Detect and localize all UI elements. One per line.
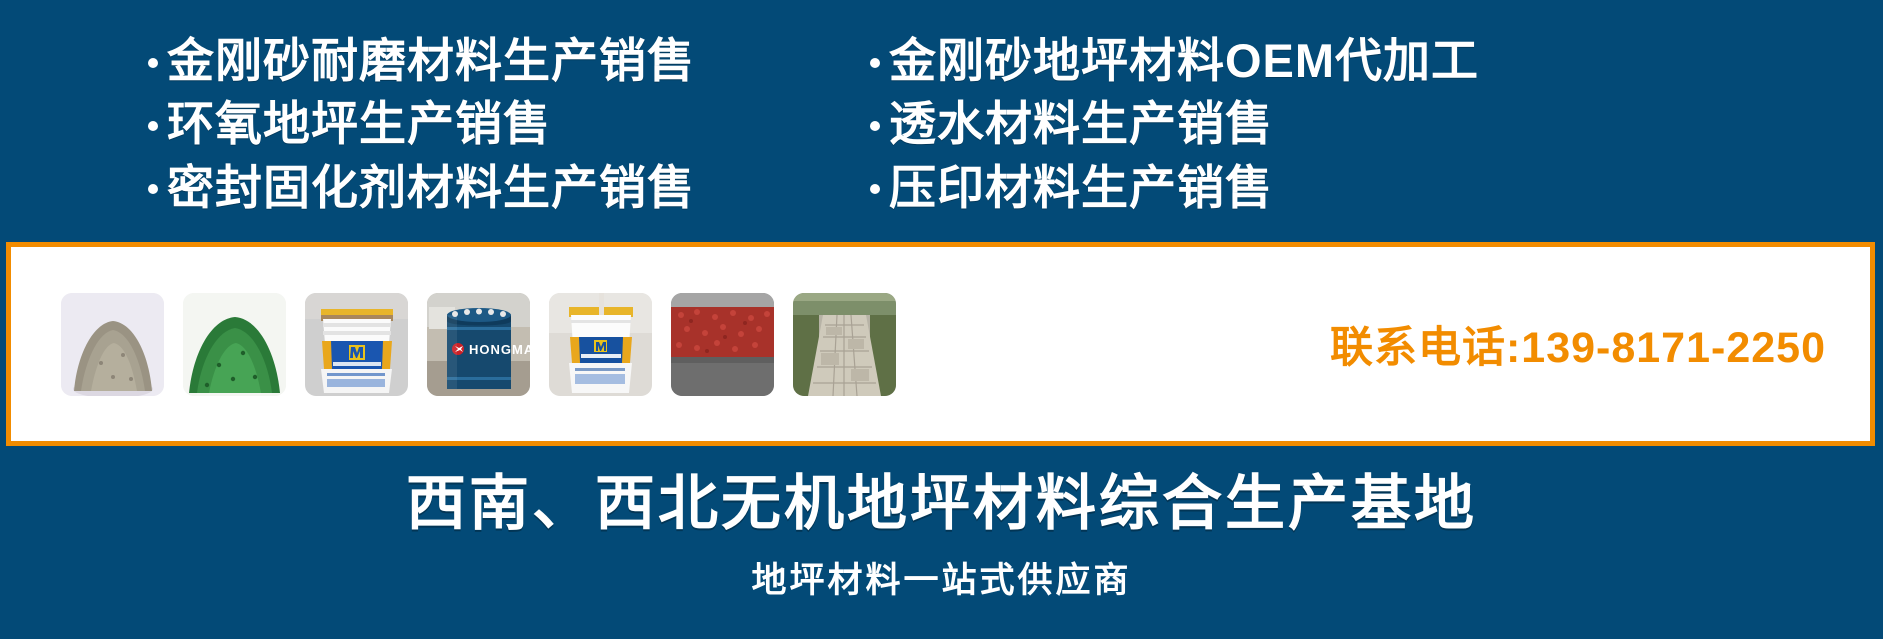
services-right-column: 金刚砂地坪材料OEM代加工 透水材料生产销售 压印材料生产销售 [870, 32, 1479, 216]
bullet-dot-icon [148, 121, 158, 131]
service-item: 压印材料生产销售 [870, 159, 1479, 216]
service-item: 密封固化剂材料生产销售 [148, 159, 695, 216]
service-item: 金刚砂地坪材料OEM代加工 [870, 32, 1479, 89]
page-subtitle: 地坪材料一站式供应商 [0, 552, 1883, 603]
white-pail-sealer-photo [305, 293, 408, 396]
grey-abrasive-powder-photo [61, 293, 164, 396]
service-label: 金刚砂地坪材料OEM代加工 [889, 32, 1479, 89]
bullet-dot-icon [870, 184, 880, 194]
service-label: 环氧地坪生产销售 [167, 95, 551, 152]
service-label: 压印材料生产销售 [889, 159, 1273, 216]
green-powder-photo [183, 293, 286, 396]
red-permeable-paving-photo [671, 293, 774, 396]
service-label: 透水材料生产销售 [889, 95, 1273, 152]
service-item: 透水材料生产销售 [870, 95, 1479, 152]
svg-text:HONGMA: HONGMA [469, 342, 530, 357]
bullet-dot-icon [870, 121, 880, 131]
contact-phone[interactable]: 联系电话:139-8171-2250 [1330, 313, 1826, 375]
product-strip: HONGMA [6, 242, 1875, 446]
service-label: 金刚砂耐磨材料生产销售 [167, 32, 695, 89]
service-label: 密封固化剂材料生产销售 [167, 159, 695, 216]
epoxy-floor-pail-photo [549, 293, 652, 396]
bullet-dot-icon [870, 58, 880, 68]
page-title: 西南、西北无机地坪材料综合生产基地 [0, 455, 1883, 542]
service-item: 金刚砂耐磨材料生产销售 [148, 32, 695, 89]
bullet-dot-icon [148, 58, 158, 68]
promo-banner: 金刚砂耐磨材料生产销售 环氧地坪生产销售 密封固化剂材料生产销售 金刚砂地坪材料… [0, 0, 1883, 639]
services-left-column: 金刚砂耐磨材料生产销售 环氧地坪生产销售 密封固化剂材料生产销售 [148, 32, 695, 216]
stamped-concrete-path-photo [793, 293, 896, 396]
service-item: 环氧地坪生产销售 [148, 95, 695, 152]
hongma-steel-drum-photo: HONGMA [427, 293, 530, 396]
bullet-dot-icon [148, 184, 158, 194]
product-thumbnail-row: HONGMA [61, 293, 896, 396]
